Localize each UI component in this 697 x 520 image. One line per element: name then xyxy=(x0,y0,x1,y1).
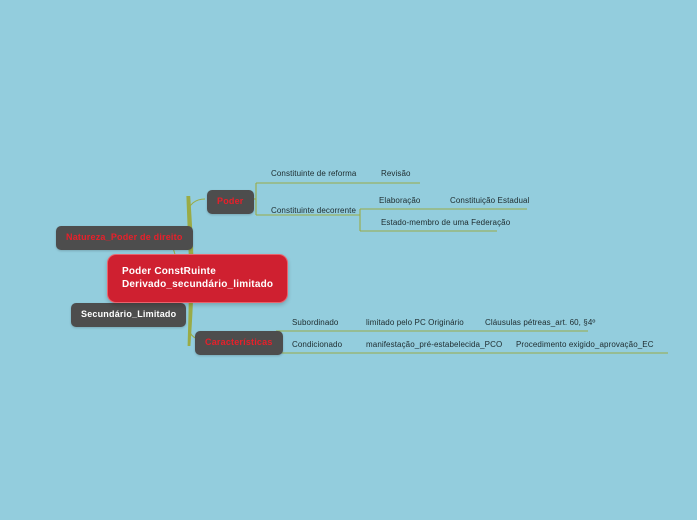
leaf-procedimento-exigido-aprovacao-ec[interactable]: Procedimento exigido_aprovação_EC xyxy=(516,340,654,350)
leaf-subordinado[interactable]: Subordinado xyxy=(292,318,338,328)
central-line-1: Poder ConstRuinte xyxy=(122,265,273,278)
leaf-constituicao-estadual[interactable]: Constituição Estadual xyxy=(450,196,529,206)
leaf-clausulas-petreas[interactable]: Cláusulas pétreas_art. 60, §4º xyxy=(485,318,595,328)
node-secundario-limitado[interactable]: Secundário_Limitado xyxy=(71,303,186,327)
node-central-poder-constituinte-derivado[interactable]: Poder ConstRuinte Derivado_secundário_li… xyxy=(107,254,288,303)
leaf-constituinte-decorrente[interactable]: Constituinte decorrente xyxy=(271,206,356,216)
leaf-limitado-pelo-pc-originario[interactable]: limitado pelo PC Originário xyxy=(366,318,464,328)
leaf-condicionado[interactable]: Condicionado xyxy=(292,340,342,350)
mindmap-canvas: Natureza_Poder de direito Secundário_Lim… xyxy=(0,0,697,520)
leaf-constituinte-de-reforma[interactable]: Constituinte de reforma xyxy=(271,169,356,179)
central-line-2: Derivado_secundário_limitado xyxy=(122,278,273,291)
branch-title-poder[interactable]: Poder xyxy=(207,190,254,214)
connector-lines xyxy=(0,0,697,520)
leaf-manifestacao-pre-estabelecida-pco[interactable]: manifestação_pré-estabelecida_PCO xyxy=(366,340,502,350)
wire-to-poder-branch xyxy=(188,199,205,214)
leaf-estado-membro-de-uma-federacao[interactable]: Estado-membro de uma Federação xyxy=(381,218,510,228)
leaf-revisao[interactable]: Revisão xyxy=(381,169,411,179)
leaf-elaboracao[interactable]: Elaboração xyxy=(379,196,420,206)
node-natureza-poder-de-direito[interactable]: Natureza_Poder de direito xyxy=(56,226,193,250)
branch-title-caracteristicas[interactable]: Características xyxy=(195,331,283,355)
